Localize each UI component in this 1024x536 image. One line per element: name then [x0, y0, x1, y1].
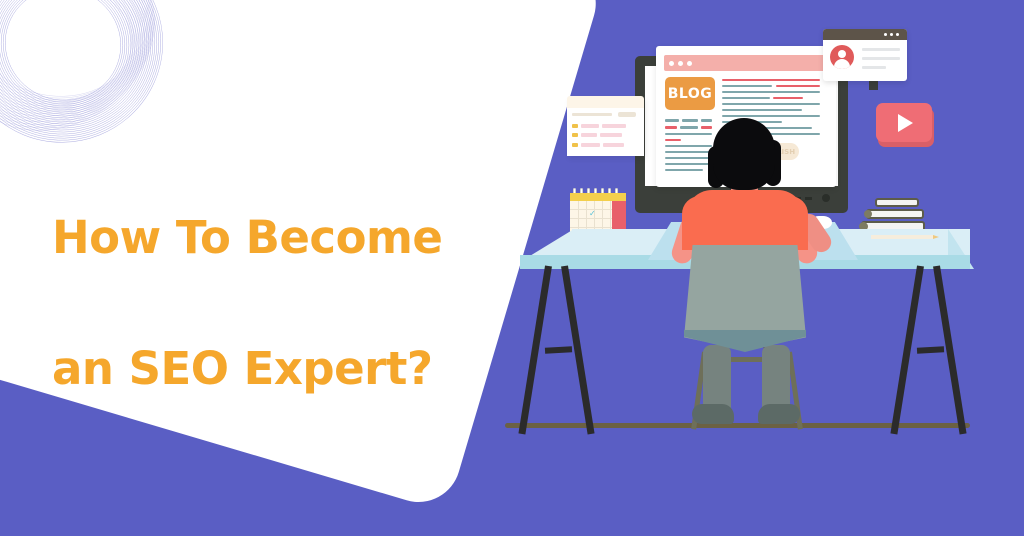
content-tag	[680, 126, 698, 129]
content-line	[665, 145, 712, 147]
side-list-row-tag	[572, 124, 578, 128]
side-list-row-bar	[603, 143, 624, 147]
browser-dot-icon	[678, 61, 683, 66]
monitor-power-dot	[822, 194, 830, 202]
side-list-row-tag	[572, 143, 578, 147]
content-line	[722, 115, 820, 117]
browser-dot-icon	[884, 33, 887, 36]
side-list-row-bar	[581, 143, 600, 147]
side-list-row-bar	[600, 133, 622, 137]
book-top	[875, 198, 919, 207]
seo-banner: How To Become an SEO Expert?	[0, 0, 1024, 536]
book-middle-spine	[864, 210, 872, 218]
content-tag	[701, 126, 712, 129]
content-line	[722, 109, 802, 111]
content-line	[773, 97, 803, 99]
content-line	[665, 139, 681, 141]
content-line	[665, 169, 703, 171]
side-list-row-bar	[581, 124, 599, 128]
book-middle	[866, 209, 924, 219]
content-line	[722, 85, 772, 87]
desk-leg-brace	[917, 346, 944, 353]
side-list-row-tag	[572, 133, 578, 137]
pencil-tip	[933, 235, 939, 239]
content-line	[722, 103, 820, 105]
avatar-info-line	[862, 57, 900, 60]
calendar-check-icon: ✓	[589, 210, 596, 218]
content-line	[665, 163, 712, 165]
calendar-header	[570, 193, 626, 201]
content-tag	[701, 119, 712, 122]
content-tag	[665, 119, 679, 122]
content-line	[722, 91, 820, 93]
avatar-window-stand	[869, 81, 878, 90]
content-line	[665, 157, 712, 159]
monitor-chin-line	[805, 197, 812, 200]
user-avatar-icon	[830, 45, 854, 69]
content-tag	[682, 119, 698, 122]
left-shoe	[692, 404, 734, 424]
avatar-window-title-bar	[823, 29, 907, 40]
side-list-row-bar	[602, 124, 626, 128]
shirt	[686, 190, 804, 250]
pencil	[871, 235, 933, 239]
side-list-header-pill	[618, 112, 636, 117]
side-list-header-line	[572, 113, 612, 116]
seo-illustration: BLOG PUBLISH	[0, 0, 1024, 536]
play-icon	[898, 114, 913, 132]
content-line	[665, 133, 712, 135]
desk-leg-brace	[545, 346, 572, 353]
floor-line	[505, 423, 970, 428]
right-shoe	[758, 404, 800, 424]
content-tag	[665, 126, 677, 129]
blog-badge: BLOG	[665, 77, 715, 110]
avatar-info-line	[862, 48, 900, 51]
avatar-info-line	[862, 66, 886, 69]
hair	[713, 118, 775, 190]
browser-dot-icon	[896, 33, 899, 36]
side-list-row-bar	[581, 133, 597, 137]
content-line	[722, 97, 770, 99]
content-line	[776, 85, 820, 87]
content-line	[665, 151, 712, 153]
browser-dot-icon	[669, 61, 674, 66]
browser-dot-icon	[890, 33, 893, 36]
content-line	[722, 79, 820, 81]
browser-dot-icon	[687, 61, 692, 66]
